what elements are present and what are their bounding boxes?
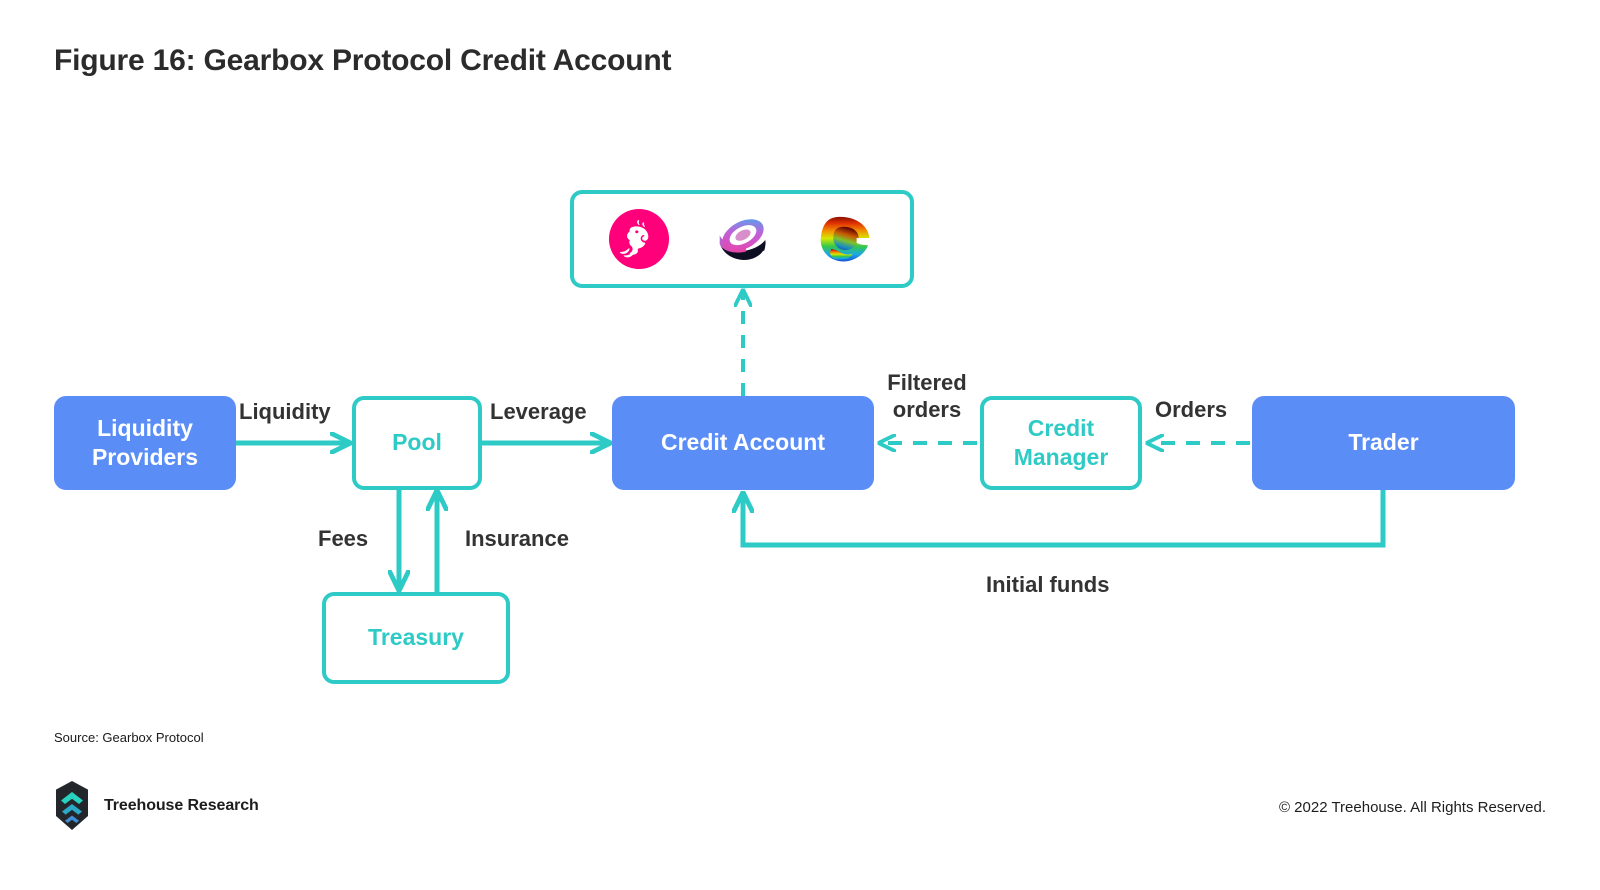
node-trader[interactable]: Trader [1252, 396, 1515, 490]
node-label: Credit Account [661, 428, 825, 457]
node-pool[interactable]: Pool [352, 396, 482, 490]
node-credit-account[interactable]: Credit Account [612, 396, 874, 490]
edge-label-fees: Fees [318, 526, 368, 553]
protocols-panel [570, 190, 914, 288]
node-label: Pool [392, 428, 442, 457]
edge-label-initial-funds: Initial funds [986, 572, 1109, 599]
node-treasury[interactable]: Treasury [322, 592, 510, 684]
figure-canvas: Figure 16: Gearbox Protocol Credit Accou… [0, 0, 1600, 890]
node-label: Credit Manager [1014, 414, 1109, 473]
edge-initial-funds [743, 490, 1383, 545]
node-liquidity-providers[interactable]: Liquidity Providers [54, 396, 236, 490]
edge-label-filtered-orders-line2: orders [893, 397, 961, 422]
edge-label-filtered-orders-line1: Filtered [887, 370, 966, 395]
edge-label-orders: Orders [1155, 397, 1227, 424]
edge-label-filtered-orders: Filtered orders [879, 370, 975, 424]
source-note: Source: Gearbox Protocol [54, 730, 204, 745]
node-label: Liquidity Providers [92, 414, 198, 473]
balancer-logo [814, 208, 876, 270]
sushiswap-logo [711, 208, 773, 270]
page-title: Figure 16: Gearbox Protocol Credit Accou… [54, 44, 671, 78]
edge-label-liquidity: Liquidity [239, 399, 331, 426]
brand-name: Treehouse Research [104, 797, 259, 815]
treehouse-logo [54, 780, 90, 832]
uniswap-logo [608, 208, 670, 270]
edge-label-insurance: Insurance [465, 526, 569, 553]
node-label: Trader [1348, 428, 1418, 457]
brand-row: Treehouse Research [54, 780, 259, 832]
copyright-text: © 2022 Treehouse. All Rights Reserved. [1279, 799, 1546, 816]
edge-label-leverage: Leverage [490, 399, 587, 426]
node-credit-manager[interactable]: Credit Manager [980, 396, 1142, 490]
node-label: Treasury [368, 623, 464, 652]
